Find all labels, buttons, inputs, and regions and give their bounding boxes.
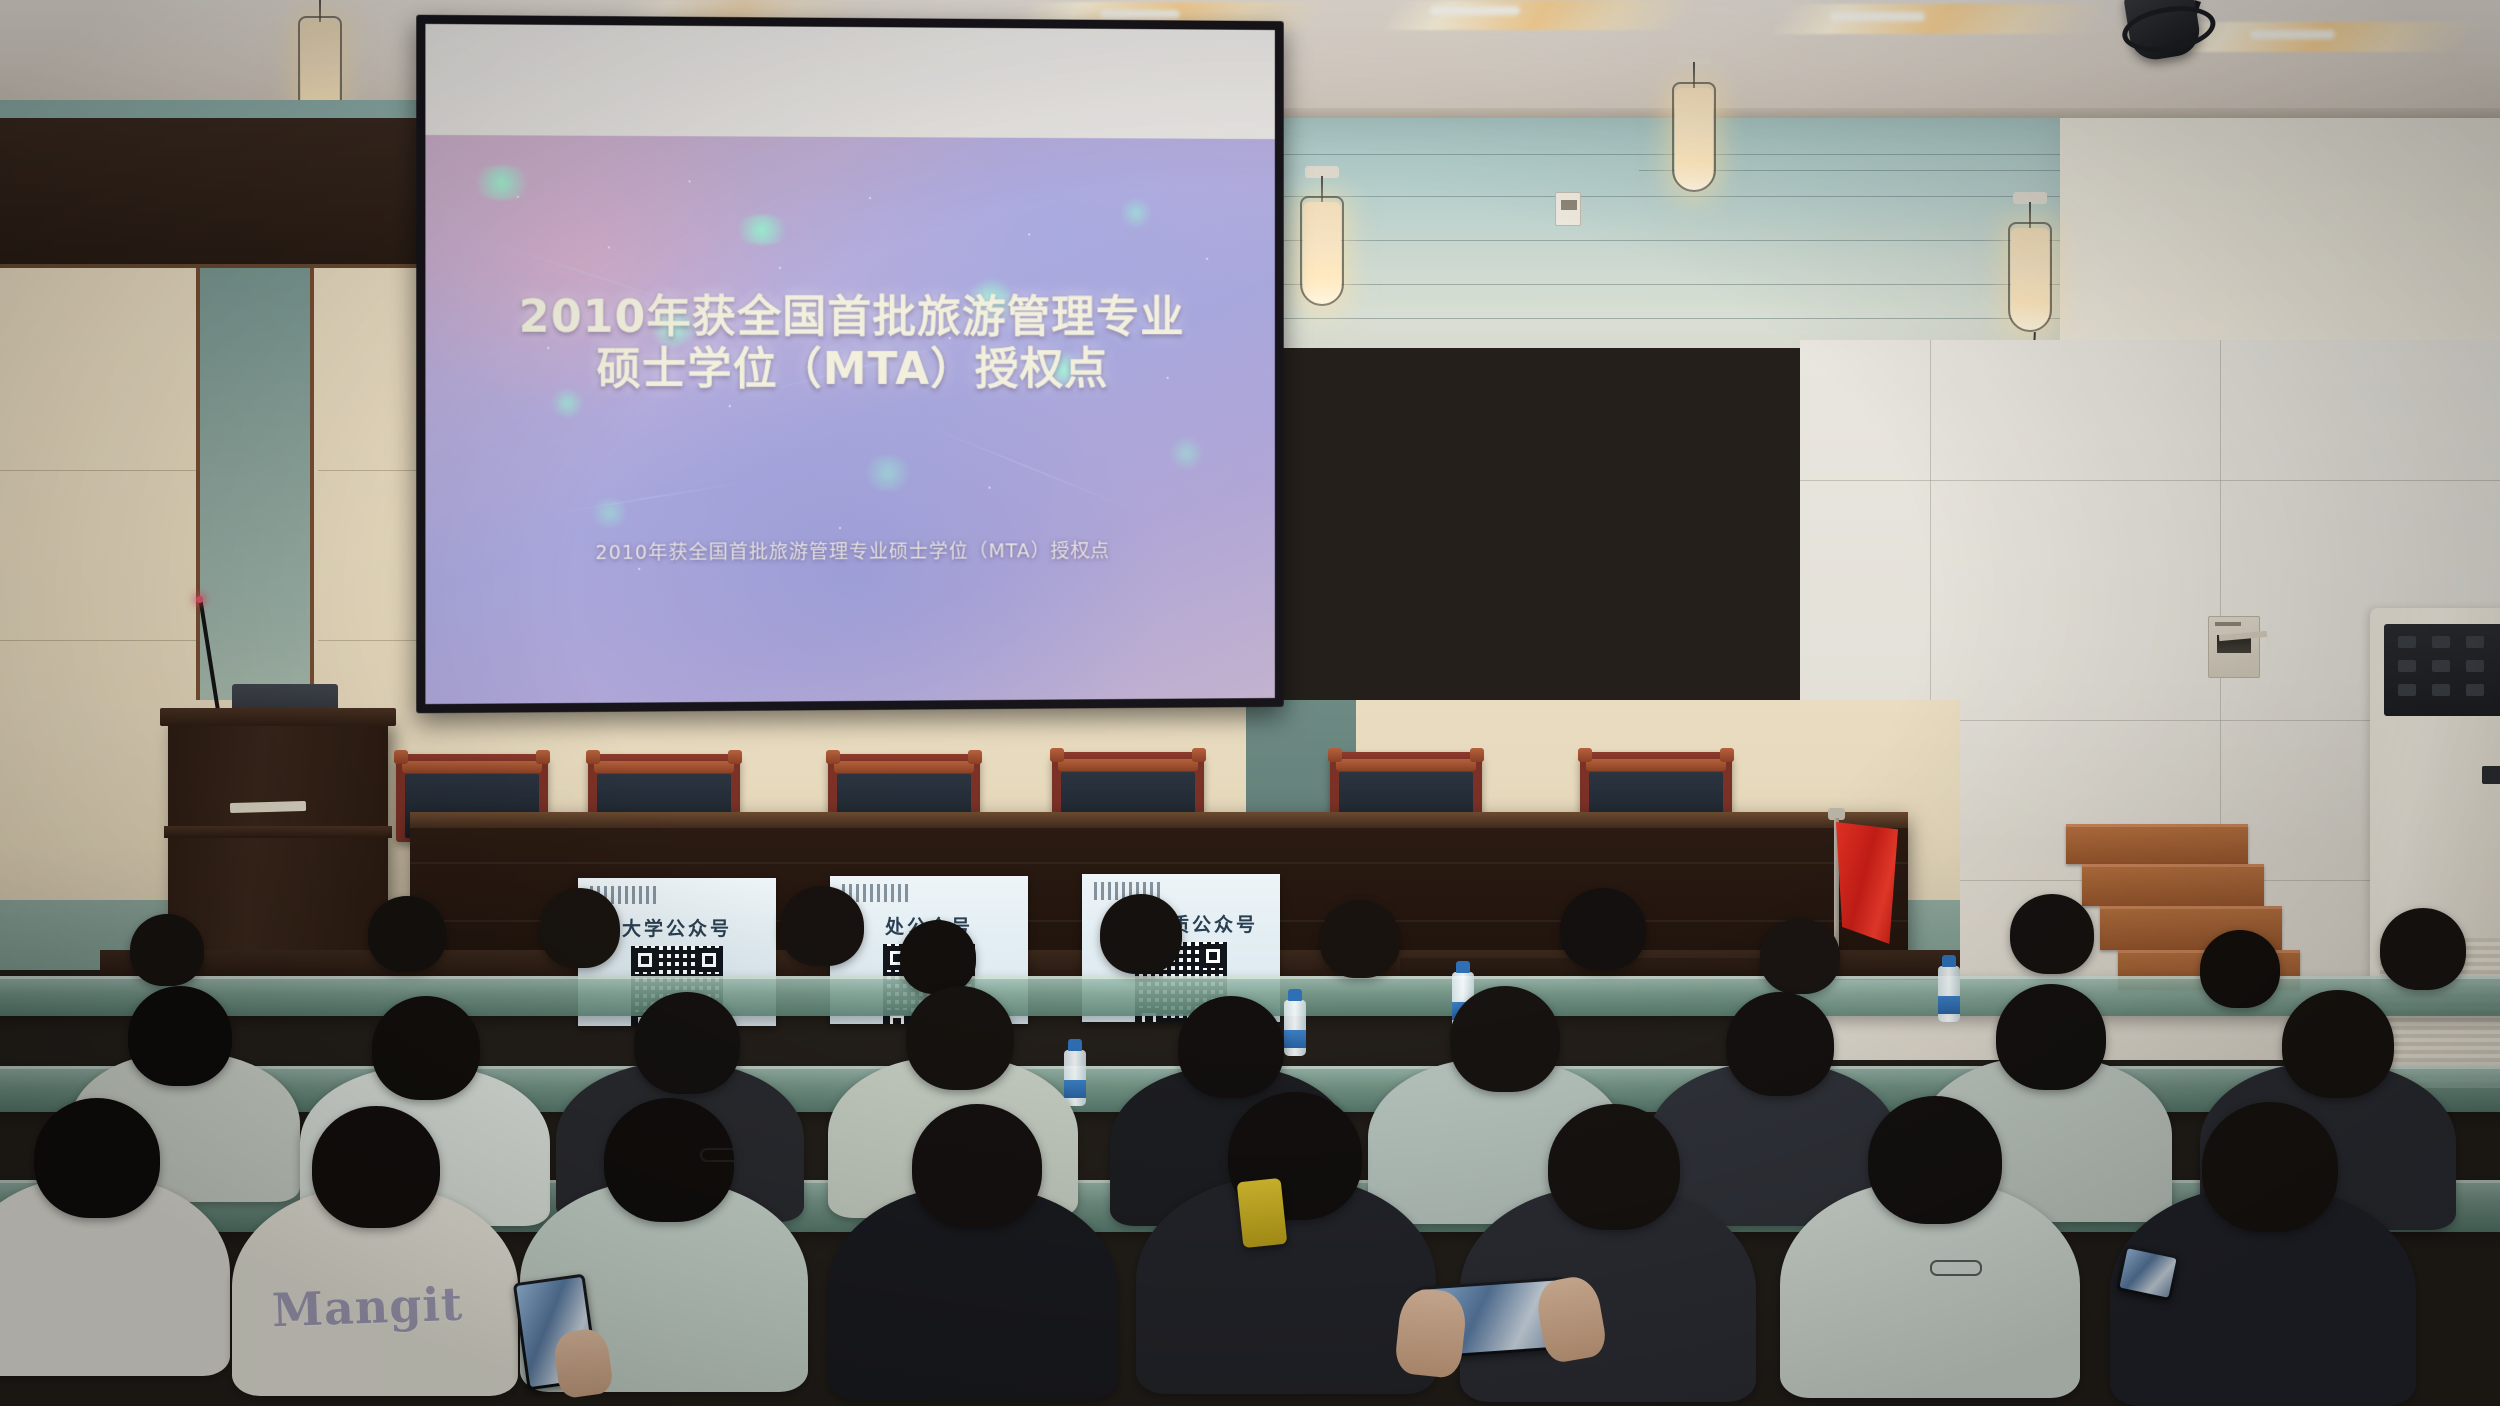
- light-core: [2250, 30, 2335, 39]
- recessed-ceiling-light: [1382, 0, 1698, 30]
- left-wall-beam: [0, 118, 440, 268]
- light-core: [1100, 10, 1180, 19]
- teal-panel-wall: [1250, 118, 2060, 348]
- eyeglasses-icon: [1930, 1260, 1982, 1276]
- wall-control-box: [2208, 616, 2260, 678]
- slide-title-line-2: 硕士学位（MTA）授权点: [466, 344, 1235, 396]
- slide-subtitle: 2010年获全国首批旅游管理专业硕士学位（MTA）授权点: [425, 535, 1274, 565]
- water-bottle: [1064, 1050, 1086, 1106]
- podium-papers: [230, 801, 306, 813]
- projected-slide: 2010年获全国首批旅游管理专业 硕士学位（MTA）授权点 2010年获全国首批…: [425, 135, 1274, 704]
- slide-title: 2010年获全国首批旅游管理专业 硕士学位（MTA）授权点: [425, 291, 1274, 396]
- wall-outlet: [1555, 192, 1581, 226]
- pendant-lamp: [1292, 166, 1352, 326]
- lecture-hall-photo: 2010年获全国首批旅游管理专业 硕士学位（MTA）授权点 2010年获全国首批…: [0, 0, 2500, 1406]
- light-core: [1830, 12, 1925, 21]
- light-core: [1430, 6, 1520, 15]
- water-bottle: [1938, 966, 1960, 1022]
- projection-screen: 2010年获全国首批旅游管理专业 硕士学位（MTA）授权点 2010年获全国首批…: [416, 15, 1283, 713]
- eyeglasses-icon: [700, 1148, 744, 1162]
- pendant-lamp: [1664, 52, 1724, 212]
- smartphone[interactable]: [1237, 1178, 1288, 1248]
- water-bottle: [1284, 1000, 1306, 1056]
- recessed-ceiling-light: [1772, 4, 2108, 34]
- audience-area: Mangit: [0, 880, 2500, 1406]
- tshirt-graphic-text: Mangit: [271, 1277, 464, 1338]
- screen-surface: 2010年获全国首批旅游管理专业 硕士学位（MTA）授权点 2010年获全国首批…: [425, 24, 1274, 704]
- slide-title-line-1: 2010年获全国首批旅游管理专业: [466, 291, 1235, 344]
- pendant-lamp: [2000, 192, 2060, 352]
- microphone-led-icon: [196, 596, 203, 603]
- upper-right-wall: [2060, 118, 2500, 358]
- ac-display-panel: [2384, 624, 2500, 716]
- ac-brand-tag: [2482, 766, 2500, 784]
